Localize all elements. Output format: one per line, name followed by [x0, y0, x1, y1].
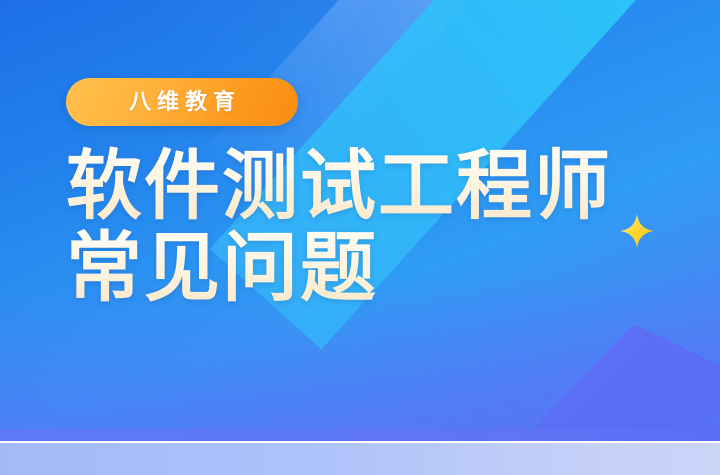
brand-badge-label: 八维教育 — [123, 91, 241, 113]
bottom-bar-lavender — [0, 443, 720, 475]
headline-line-2: 常见问题 — [66, 228, 706, 310]
promo-banner: 八维教育 软件测试工程师 常见问题 — [0, 0, 720, 475]
bottom-bar-indigo — [0, 429, 720, 441]
brand-badge: 八维教育 — [66, 78, 298, 126]
headline-line-1: 软件测试工程师 — [66, 146, 706, 228]
headline-block: 软件测试工程师 常见问题 — [66, 146, 706, 310]
